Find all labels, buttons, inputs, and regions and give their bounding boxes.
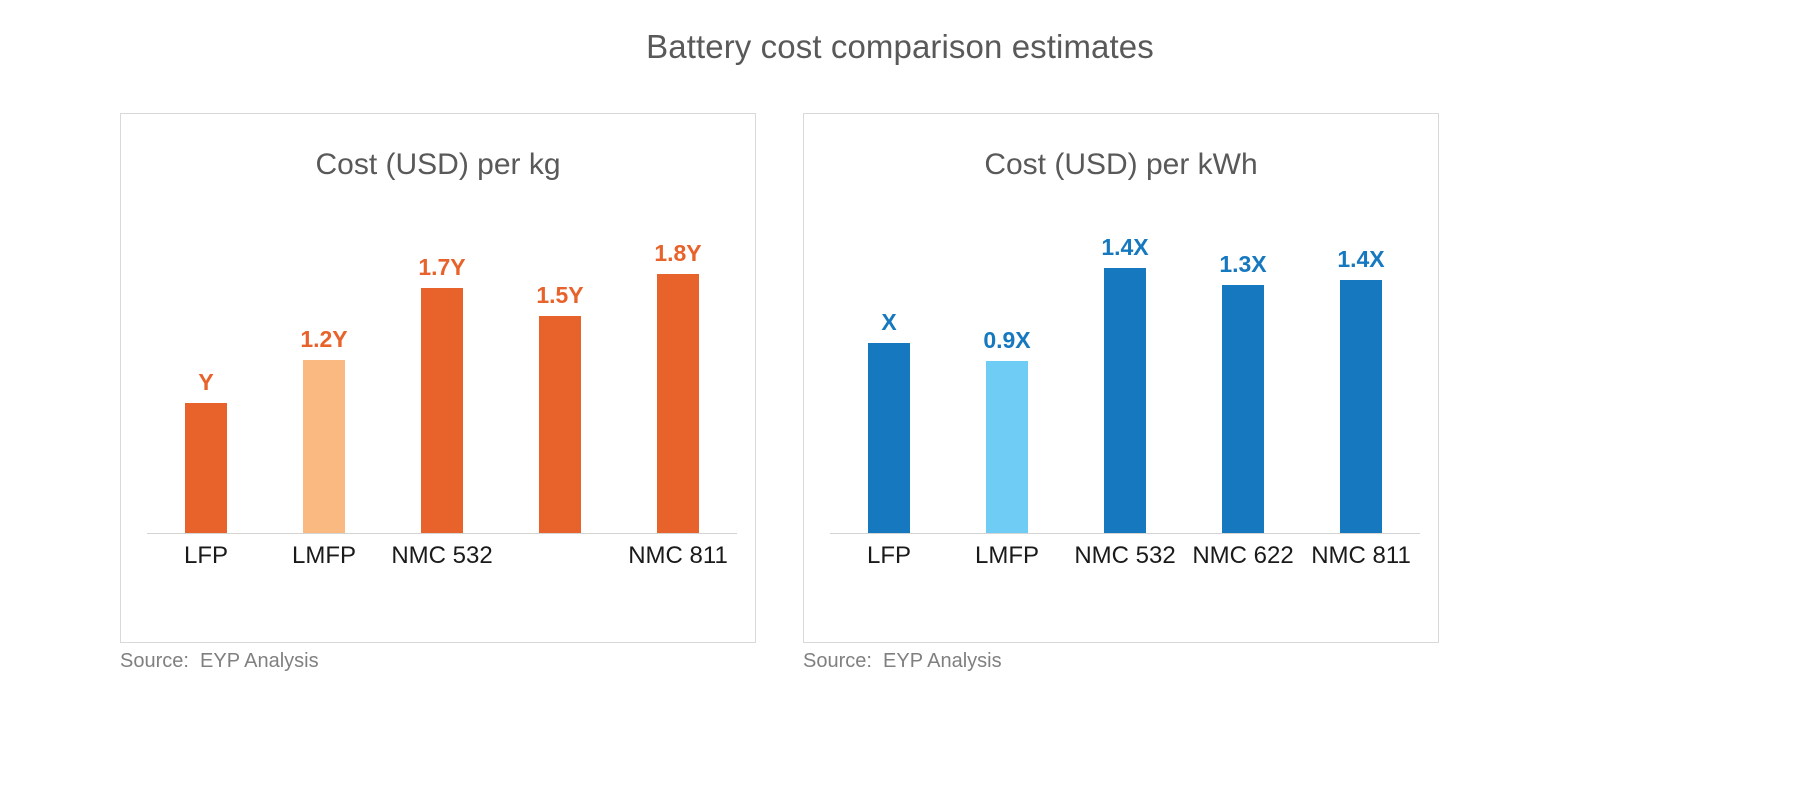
- bar-rect[interactable]: [1104, 268, 1146, 533]
- bar-slot: Y: [147, 222, 265, 533]
- bar-slot: 1.4X: [1066, 222, 1184, 533]
- bar-slot: 1.4X: [1302, 222, 1420, 533]
- x-axis-tick-label: LFP: [184, 542, 228, 570]
- page-title: Battery cost comparison estimates: [0, 28, 1800, 66]
- bar-slot: 1.8Y: [619, 222, 737, 533]
- bar-rect[interactable]: [986, 361, 1028, 533]
- bar-slot: 0.9X: [948, 222, 1066, 533]
- bar-slot: X: [830, 222, 948, 533]
- bar-value-label: 1.5Y: [536, 284, 583, 307]
- x-axis-line-right: [830, 533, 1420, 534]
- plot-area-right: X0.9X1.4X1.3X1.4X: [830, 222, 1420, 534]
- bar-value-label: 1.8Y: [654, 242, 701, 265]
- bar-rect[interactable]: [1222, 285, 1264, 533]
- bar-group-right: X0.9X1.4X1.3X1.4X: [830, 222, 1420, 533]
- x-axis-tick-label: NMC 532: [1074, 542, 1175, 570]
- x-axis-labels-right: LFPLMFPNMC 532NMC 622NMC 811: [830, 542, 1420, 582]
- source-note-right: Source: EYP Analysis: [803, 650, 1002, 673]
- bar-rect[interactable]: [1340, 280, 1382, 533]
- chart-title-right: Cost (USD) per kWh: [804, 148, 1438, 182]
- source-note-left: Source: EYP Analysis: [120, 650, 319, 673]
- bar-value-label: 1.4X: [1101, 236, 1148, 259]
- x-axis-tick-label: LMFP: [975, 542, 1039, 570]
- bar-slot: 1.5Y: [501, 222, 619, 533]
- plot-area-left: Y1.2Y1.7Y1.5Y1.8Y: [147, 222, 737, 534]
- bar-slot: 1.2Y: [265, 222, 383, 533]
- bar-slot: 1.3X: [1184, 222, 1302, 533]
- bar-value-label: 1.2Y: [300, 328, 347, 351]
- chart-title-left: Cost (USD) per kg: [121, 148, 755, 182]
- bar-rect[interactable]: [868, 343, 910, 533]
- x-axis-tick-label: NMC 811: [628, 542, 728, 570]
- bar-rect[interactable]: [539, 316, 581, 533]
- bar-value-label: X: [881, 311, 896, 334]
- x-axis-tick-label: LFP: [867, 542, 911, 570]
- bar-group-left: Y1.2Y1.7Y1.5Y1.8Y: [147, 222, 737, 533]
- x-axis-labels-left: LFPLMFPNMC 532NMC 811: [147, 542, 737, 582]
- x-axis-tick-label: NMC 811: [1311, 542, 1411, 570]
- bar-rect[interactable]: [185, 403, 227, 533]
- bar-rect[interactable]: [421, 288, 463, 533]
- bar-value-label: 1.4X: [1337, 248, 1384, 271]
- chart-panel-cost-per-kg: Cost (USD) per kg Y1.2Y1.7Y1.5Y1.8Y LFPL…: [120, 113, 756, 643]
- bar-value-label: 0.9X: [983, 329, 1030, 352]
- bar-rect[interactable]: [303, 360, 345, 533]
- bar-slot: 1.7Y: [383, 222, 501, 533]
- chart-panel-cost-per-kwh: Cost (USD) per kWh X0.9X1.4X1.3X1.4X LFP…: [803, 113, 1439, 643]
- bar-value-label: 1.3X: [1219, 253, 1266, 276]
- bar-value-label: 1.7Y: [418, 256, 465, 279]
- bar-value-label: Y: [198, 371, 213, 394]
- bar-rect[interactable]: [657, 274, 699, 533]
- x-axis-tick-label: LMFP: [292, 542, 356, 570]
- x-axis-tick-label: NMC 532: [391, 542, 492, 570]
- x-axis-line-left: [147, 533, 737, 534]
- x-axis-tick-label: NMC 622: [1192, 542, 1293, 570]
- chart-page: Battery cost comparison estimates Cost (…: [0, 0, 1800, 800]
